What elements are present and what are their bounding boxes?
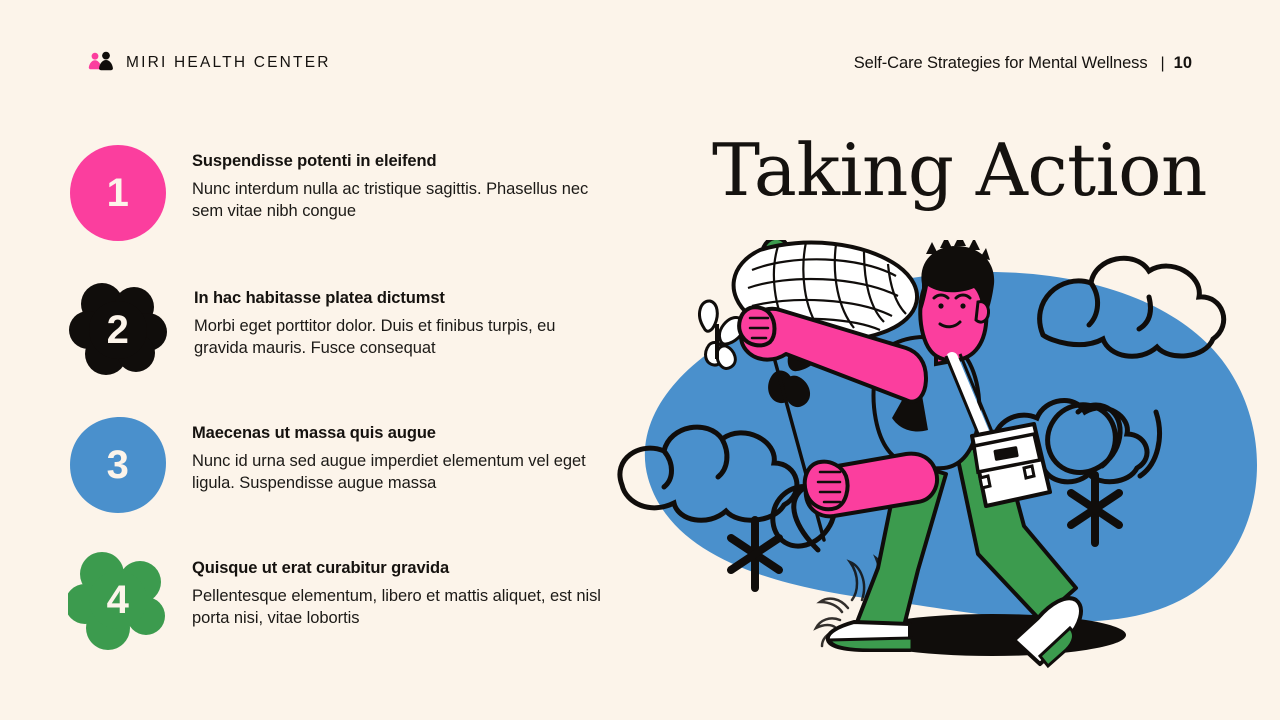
badge-1: 1 — [68, 143, 168, 243]
list-item-title: Quisque ut erat curabitur gravida — [192, 558, 608, 579]
badge-4: 4 — [68, 550, 168, 650]
list-item-body: Pellentesque elementum, libero et mattis… — [192, 585, 602, 631]
deck-title: Self-Care Strategies for Mental Wellness — [854, 54, 1148, 73]
list-item-body: Morbi eget porttitor dolor. Duis et fini… — [192, 315, 604, 361]
list-item-text: Maecenas ut massa quis augue Nunc id urn… — [168, 415, 608, 495]
list-item-text: Quisque ut erat curabitur gravida Pellen… — [168, 550, 608, 630]
page-title: Taking Action — [712, 134, 1252, 206]
list-item: 4 Quisque ut erat curabitur gravida Pell… — [68, 550, 608, 670]
person-with-butterfly-net-illustration — [600, 240, 1280, 670]
slide: MIRI HEALTH CENTER Self-Care Strategies … — [0, 0, 1280, 720]
brand-name: MIRI HEALTH CENTER — [126, 54, 331, 72]
header-meta: Self-Care Strategies for Mental Wellness… — [854, 54, 1192, 73]
page-number: 10 — [1174, 54, 1192, 73]
list-item-text: In hac habitasse platea dictumst Morbi e… — [168, 280, 608, 360]
badge-2: 2 — [68, 280, 168, 380]
list-item-title: Maecenas ut massa quis augue — [192, 423, 608, 444]
two-people-icon — [88, 51, 114, 75]
badge-number: 1 — [107, 173, 130, 213]
shoulder-bag — [972, 424, 1050, 506]
badge-number: 4 — [107, 580, 130, 620]
list-item: 3 Maecenas ut massa quis augue Nunc id u… — [68, 415, 608, 535]
list-item-title: Suspendisse potenti in eleifend — [192, 151, 608, 172]
badge-number: 3 — [107, 445, 130, 485]
slide-header: MIRI HEALTH CENTER Self-Care Strategies … — [0, 45, 1280, 81]
list-item: 2 In hac habitasse platea dictumst Morbi… — [68, 280, 608, 400]
brand: MIRI HEALTH CENTER — [88, 51, 331, 75]
badge-3: 3 — [68, 415, 168, 515]
list-item-body: Nunc interdum nulla ac tristique sagitti… — [192, 178, 592, 224]
list-item-text: Suspendisse potenti in eleifend Nunc int… — [168, 143, 608, 223]
list-item-body: Nunc id urna sed augue imperdiet element… — [192, 450, 592, 496]
badge-number: 2 — [107, 310, 130, 350]
list-item: 1 Suspendisse potenti in eleifend Nunc i… — [68, 143, 608, 263]
list-item-title: In hac habitasse platea dictumst — [192, 288, 608, 309]
header-separator: | — [1147, 55, 1173, 73]
